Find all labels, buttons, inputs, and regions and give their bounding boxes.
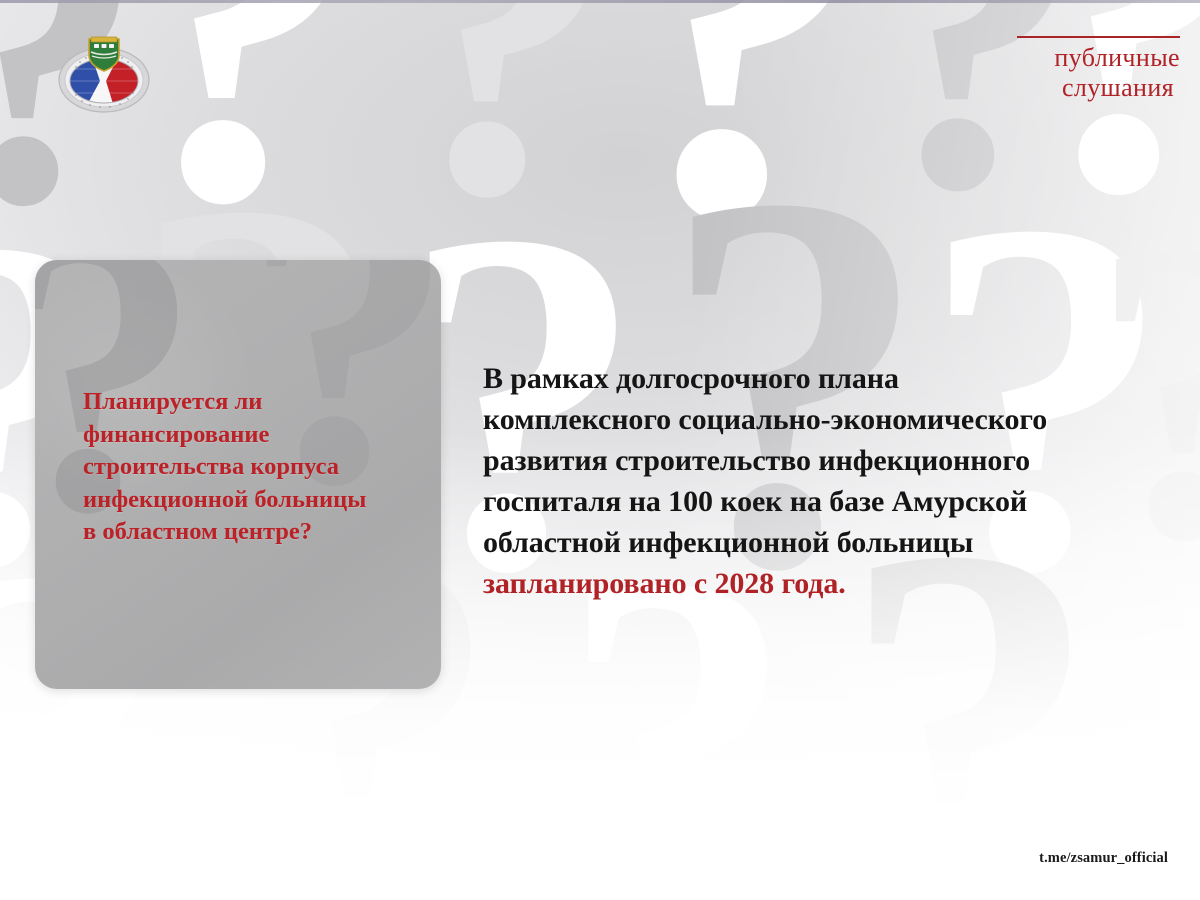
header-title: публичные слушания xyxy=(880,36,1180,103)
answer-text: В рамках долгосрочного плана комплексног… xyxy=(483,358,1189,604)
slide: ? ? ? ? ? ? ? ? ? ? ? ? ? ? ? ? xyxy=(0,0,1200,900)
question-card: ? ? Планируется ли финансирование строит… xyxy=(35,260,441,689)
answer-line-5: областной инфекционной больницы xyxy=(483,522,1189,563)
answer-line-6: запланировано с 2028 года. xyxy=(483,563,1189,604)
answer-line-3: развития строительство инфекционного xyxy=(483,440,1189,481)
answer-line-1: В рамках долгосрочного плана xyxy=(483,358,1189,399)
header-rule xyxy=(1017,36,1180,38)
question-text-line-5: в областном центре? xyxy=(83,516,427,549)
footer-handle: t.me/zsamur_official xyxy=(1039,850,1168,867)
question-text-line-3: строительства корпуса xyxy=(83,451,427,484)
question-text-line-1: Планируется ли xyxy=(83,386,427,419)
question-text: Планируется ли финансирование строительс… xyxy=(83,386,427,549)
emblem xyxy=(56,31,152,115)
answer-line-4: госпиталя на 100 коек на базе Амурской xyxy=(483,481,1189,522)
question-text-line-2: финансирование xyxy=(83,419,427,452)
top-edge-strip xyxy=(0,0,1200,3)
answer-line-2: комплексного социально-экономического xyxy=(483,399,1189,440)
header-title-line-1: публичные xyxy=(880,43,1180,73)
question-text-line-4: инфекционной больницы xyxy=(83,484,427,517)
header-title-line-2: слушания xyxy=(880,73,1174,103)
